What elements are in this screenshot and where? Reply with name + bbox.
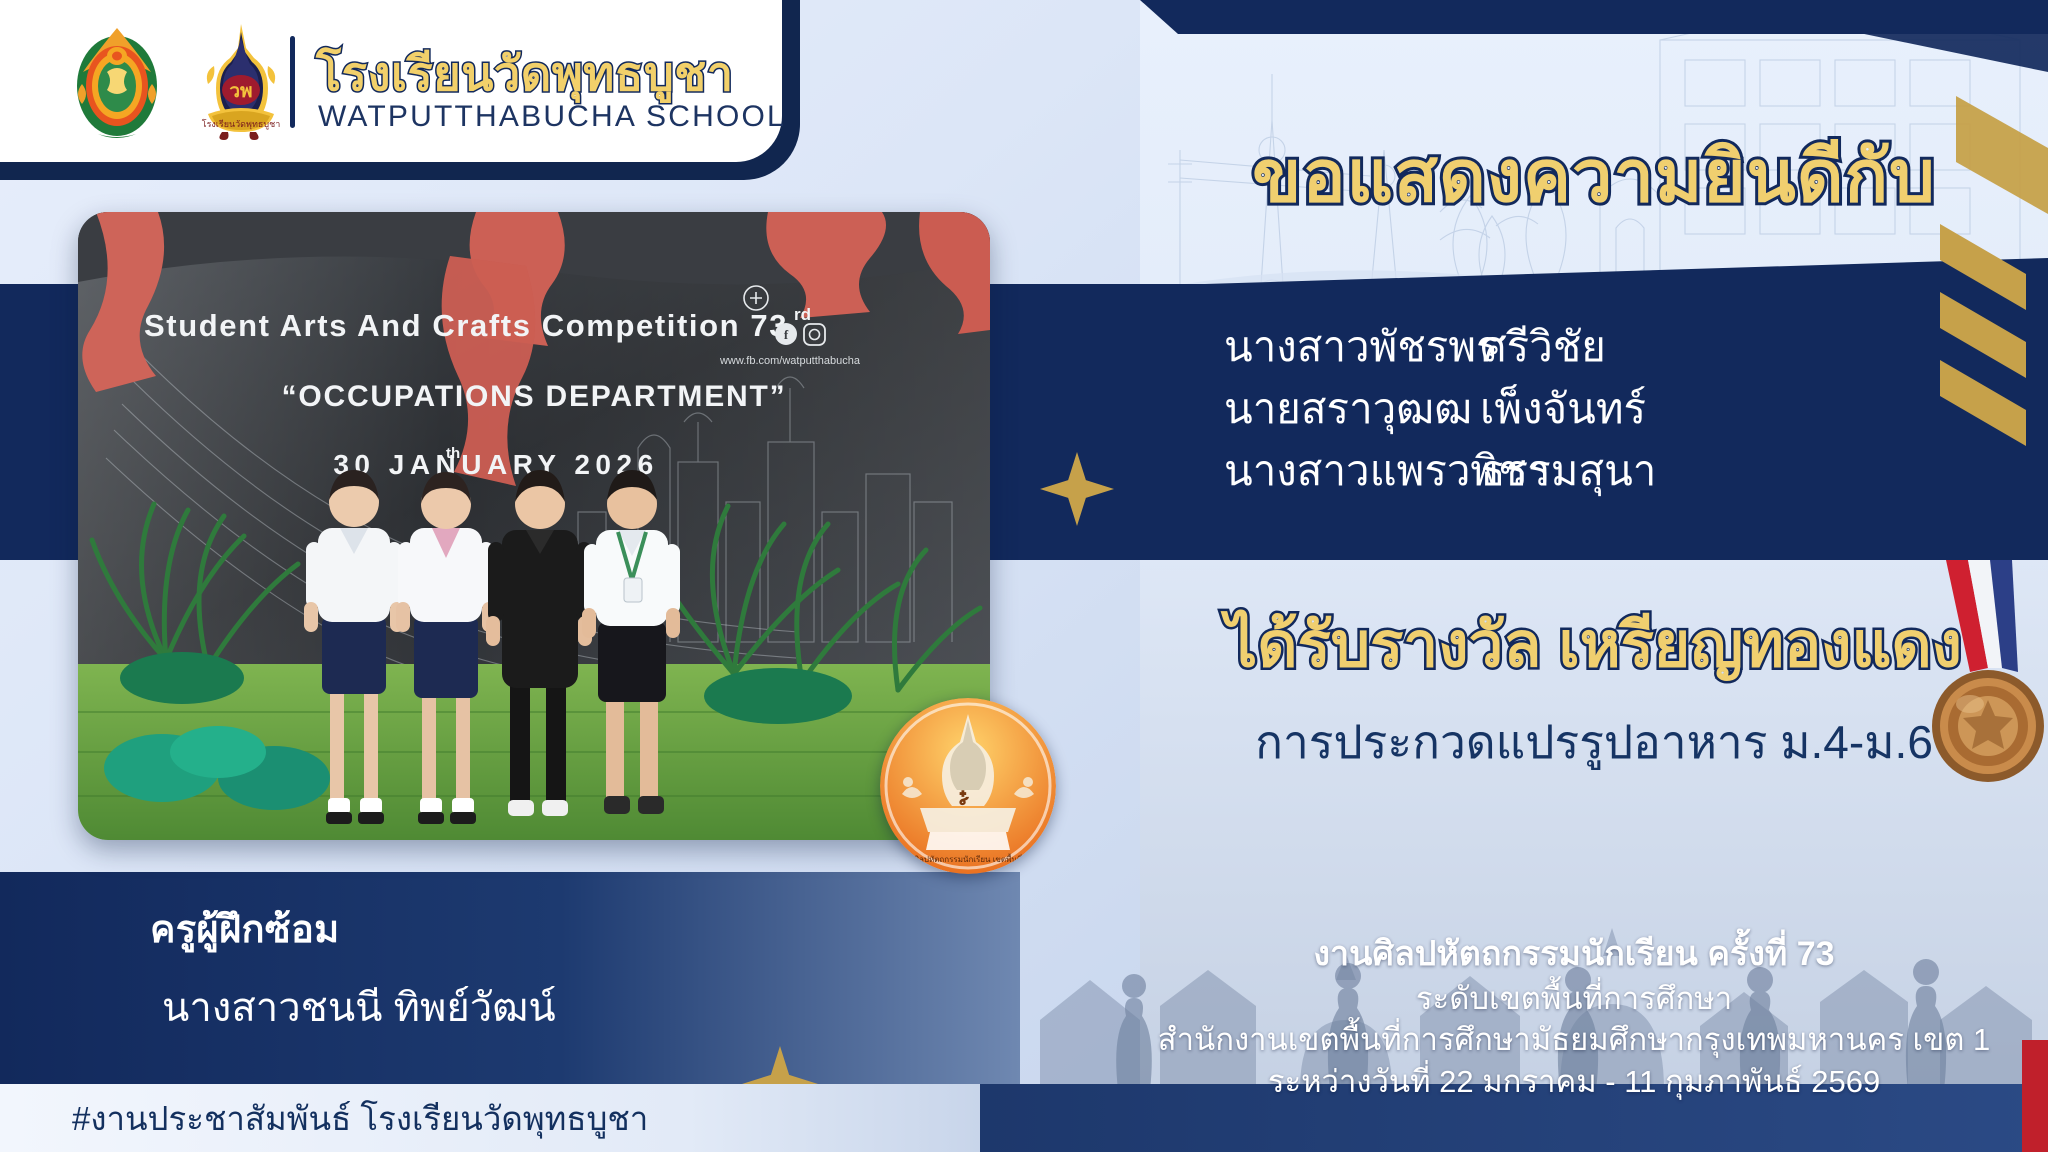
event-badge: ์๋ ศิลปหัตถกรรมนักเรียน เขตพื้นที่ — [880, 698, 1056, 874]
header-divider — [290, 36, 295, 128]
winner-2-lastname: เพ็งจันทร์ — [1480, 378, 1646, 440]
winner-row-1: นางสาวพัชรพร ศรีวิชัย — [1140, 316, 2048, 378]
event-badge-caption: ศิลปหัตถกรรมนักเรียน เขตพื้นที่ — [914, 853, 1022, 864]
photo-banner-line1: Student Arts And Crafts Competition 73 — [144, 308, 788, 343]
svg-text:วพ: วพ — [229, 81, 252, 102]
event-organizer: สำนักงานเขตพื้นที่การศึกษามัธยมศึกษากรุง… — [1100, 1019, 2048, 1061]
winner-3-lastname: ธรรมสุนา — [1480, 440, 1656, 502]
svg-text:f: f — [784, 327, 789, 342]
photo-banner-line1-sup: rd — [794, 305, 811, 324]
event-level: ระดับเขตพื้นที่การศึกษา — [1100, 978, 2048, 1020]
footer-hashtag: #งานประชาสัมพันธ์ โรงเรียนวัดพุทธบูชา — [72, 1092, 648, 1145]
watputthabucha-school-seal-icon: วพ โรงเรียนวัดพุทธบูชา — [182, 22, 300, 140]
congratulations-title: ขอแสดงความยินดีกับ — [1140, 118, 2048, 233]
coach-label: ครูผู้ฝึกซ้อม — [150, 898, 556, 959]
header-logo-card: วพ โรงเรียนวัดพุทธบูชา โรงเรียนวัดพุทธบู… — [0, 0, 782, 162]
event-dates: ระหว่างวันที่ 22 มกราคม - 11 กุมภาพันธ์ … — [1100, 1061, 2048, 1103]
winners-list: นางสาวพัชรพร ศรีวิชัย นายสราวุฒฒ เพ็งจัน… — [1140, 316, 2048, 502]
winner-2-firstname: นายสราวุฒฒ — [1224, 378, 1480, 440]
coach-name: นางสาวชนนี ทิพย์วัฒน์ — [150, 975, 556, 1039]
bronze-medal-icon — [1910, 560, 2048, 790]
photo-banner-line2: “OCCUPATIONS DEPARTMENT” — [282, 380, 787, 413]
photo-banner-line3-sup: th — [446, 445, 460, 462]
event-details: งานศิลปหัตถกรรมนักเรียน ครั้งที่ 73 ระดั… — [1100, 932, 2048, 1102]
team-photo: Student Arts And Crafts Competition 73 r… — [78, 212, 990, 840]
poster-canvas: วพ โรงเรียนวัดพุทธบูชา โรงเรียนวัดพุทธบู… — [0, 0, 2048, 1152]
photo-social-handle: www.fb.com/watputthabucha — [719, 355, 861, 367]
svg-text:โรงเรียนวัดพุทธบูชา: โรงเรียนวัดพุทธบูชา — [202, 119, 281, 130]
winner-row-3: นางสาวแพรวพิชา ธรรมสุนา — [1140, 440, 2048, 502]
winner-3-firstname: นางสาวแพรวพิชา — [1224, 440, 1480, 502]
school-name-english: WATPUTTHABUCHA SCHOOL — [318, 100, 786, 134]
navy-top-strip — [1140, 0, 2048, 34]
winner-1-lastname: ศรีวิชัย — [1480, 316, 1606, 378]
ministry-of-education-seal-icon — [58, 22, 176, 140]
photo-banner-line3: 30 JANUARY 2026 — [333, 449, 658, 480]
coach-block: ครูผู้ฝึกซ้อม นางสาวชนนี ทิพย์วัฒน์ — [150, 898, 556, 1039]
winner-row-2: นายสราวุฒฒ เพ็งจันทร์ — [1140, 378, 2048, 440]
winner-1-firstname: นางสาวพัชรพร — [1224, 316, 1480, 378]
event-title: งานศิลปหัตถกรรมนักเรียน ครั้งที่ 73 — [1100, 932, 2048, 978]
